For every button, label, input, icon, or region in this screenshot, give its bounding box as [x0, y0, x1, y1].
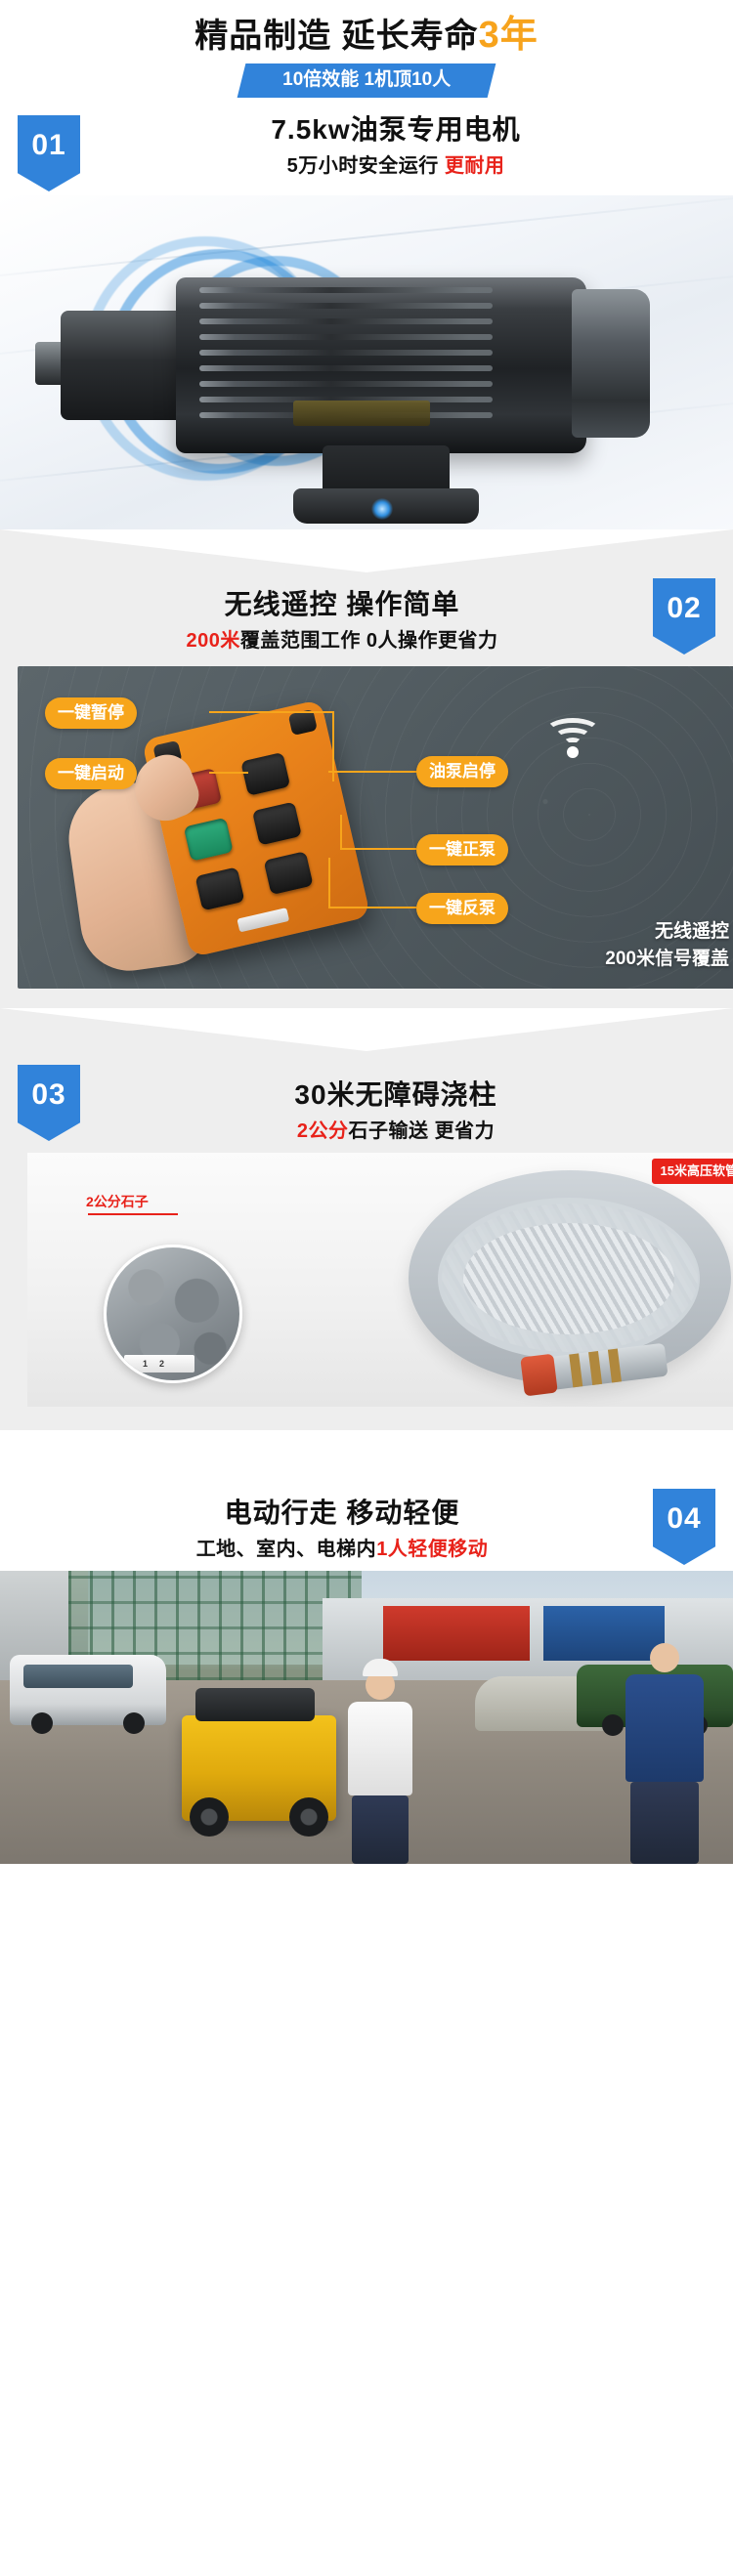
section-04: 04 电动行走 移动轻便 工地、室内、电梯内1人轻便移动: [0, 1430, 733, 1864]
remote-button-pump-start[interactable]: [240, 752, 290, 796]
site-banner-red: [383, 1606, 530, 1661]
section-01-titles: 7.5kw油泵专用电机 5万小时安全运行 更耐用: [0, 111, 733, 181]
van-wheel: [123, 1712, 145, 1734]
label-stone-size: 2公分石子: [86, 1192, 149, 1211]
hard-hat-icon: [363, 1659, 398, 1676]
section-03-subtitle-highlight: 2公分: [297, 1120, 349, 1142]
tag-hose-length: 15米高压软管: [652, 1159, 733, 1184]
remote-button-start[interactable]: [184, 818, 234, 862]
car-wheel: [602, 1714, 624, 1736]
section-badge-02-label: 02: [667, 592, 701, 624]
worker-white-shirt: [348, 1659, 412, 1864]
remote-antenna: [237, 908, 289, 932]
section-04-subtitle-highlight: 1人轻便移动: [376, 1539, 488, 1560]
hose-coupler-head: [520, 1354, 558, 1397]
gravel-sample-photo: 12: [104, 1245, 242, 1383]
section-divider-notch: [0, 1008, 733, 1051]
section-01-subtitle: 5万小时安全运行 更耐用: [59, 151, 733, 181]
concrete-pump-machine: [182, 1715, 336, 1821]
remote-caption-line-1: 无线遥控: [605, 918, 729, 946]
section-02: 02 无线遥控 操作简单 200米覆盖范围工作 0人操作更省力: [0, 529, 733, 1008]
worker-head: [650, 1643, 679, 1672]
ruler-scale: 12: [124, 1355, 194, 1372]
section-divider-notch: [0, 529, 733, 572]
callout-pause: 一键暂停: [45, 697, 137, 729]
section-01: 01 7.5kw油泵专用电机 5万小时安全运行 更耐用: [0, 98, 733, 529]
machine-hopper: [195, 1688, 315, 1721]
section-03-titles: 30米无障碍浇柱 2公分石子输送 更省力: [0, 1065, 733, 1146]
section-04-head: 04 电动行走 移动轻便 工地、室内、电梯内1人轻便移动: [0, 1473, 733, 1571]
callout-leader-line: [209, 772, 248, 774]
section-04-subtitle: 工地、室内、电梯内1人轻便移动: [0, 1535, 684, 1564]
hose-photo: 15米高压软管 2公分石子 12: [27, 1153, 733, 1407]
remote-button-spare-2[interactable]: [264, 851, 314, 895]
callout-leader-line: [209, 711, 334, 713]
wifi-signal-icon: [541, 707, 604, 758]
van-wheel: [31, 1712, 53, 1734]
section-02-title: 无线遥控 操作简单: [0, 586, 684, 623]
motor-housing: [176, 277, 586, 453]
hose-inner-coil: [438, 1198, 700, 1360]
section-04-title: 电动行走 移动轻便: [0, 1495, 684, 1532]
section-02-subtitle-highlight: 200米: [186, 630, 239, 652]
page-title-accent: 3年: [479, 15, 539, 56]
page-header: 精品制造 延长寿命3年 10倍效能 1机顶10人: [0, 0, 733, 98]
section-03-subtitle: 2公分石子输送 更省力: [59, 1117, 733, 1146]
header-banner: 10倍效能 1机顶10人: [237, 63, 496, 98]
page-title-main: 精品制造 延长寿命: [194, 18, 478, 55]
callout-pump-toggle: 油泵启停: [416, 756, 508, 787]
worker-blue-shirt: [625, 1643, 704, 1864]
section-01-subtitle-highlight: 更耐用: [445, 155, 505, 177]
callout-leader-line: [340, 848, 416, 850]
section-02-titles: 无线遥控 操作简单 200米覆盖范围工作 0人操作更省力: [0, 586, 733, 655]
worker-legs: [630, 1782, 699, 1864]
motor-end-cap: [572, 289, 650, 438]
section-03-title: 30米无障碍浇柱: [59, 1077, 733, 1114]
remote-button-forward-pump[interactable]: [252, 802, 302, 846]
callout-leader-line: [328, 771, 418, 773]
section-02-footer-space: [0, 989, 733, 1008]
motor-nameplate: [293, 401, 430, 426]
callout-leader-line: [340, 815, 342, 848]
section-02-head: 02 无线遥控 操作简单 200米覆盖范围工作 0人操作更省力: [0, 572, 733, 666]
callout-reverse-pump: 一键反泵: [416, 893, 508, 924]
led-glow-icon: [371, 498, 393, 520]
motor-photo: [0, 195, 733, 529]
remote-control-photo: 一键暂停 一键启动 油泵启停 一键正泵 一键反泵 无线遥控 200米信号覆盖: [18, 666, 733, 989]
callout-leader-line: [328, 907, 416, 908]
remote-caption-line-2: 200米信号覆盖: [605, 946, 729, 973]
section-04-titles: 电动行走 移动轻便 工地、室内、电梯内1人轻便移动: [0, 1487, 733, 1564]
callout-start: 一键启动: [45, 758, 137, 789]
label-underline: [88, 1213, 178, 1215]
section-01-title: 7.5kw油泵专用电机: [59, 111, 733, 148]
section-02-subtitle-plain: 覆盖范围工作 0人操作更省力: [240, 630, 498, 652]
section-03-footer-space: [0, 1407, 733, 1430]
machine-wheel: [289, 1797, 328, 1837]
section-03-subtitle-plain: 石子输送 更省力: [349, 1120, 496, 1142]
section-03: 03 30米无障碍浇柱 2公分石子输送 更省力 15米高压软管 2公分石子 12: [0, 1008, 733, 1430]
section-03-head: 03 30米无障碍浇柱 2公分石子输送 更省力: [0, 1051, 733, 1153]
remote-button-spare-1[interactable]: [194, 866, 244, 910]
callout-forward-pump: 一键正泵: [416, 834, 508, 866]
motor-gearbox: [61, 311, 188, 420]
section-04-subtitle-plain: 工地、室内、电梯内: [196, 1539, 377, 1560]
section-divider-notch: [0, 1430, 733, 1473]
section-02-subtitle: 200米覆盖范围工作 0人操作更省力: [0, 626, 684, 655]
header-banner-wrap: 10倍效能 1机顶10人: [0, 63, 733, 98]
worksite-photo: [0, 1571, 733, 1864]
section-badge-03-label: 03: [31, 1078, 65, 1111]
section-01-subtitle-plain: 5万小时安全运行: [287, 155, 445, 177]
light-streak: [0, 195, 733, 282]
page-title: 精品制造 延长寿命3年: [0, 14, 733, 58]
section-badge-04-label: 04: [667, 1502, 701, 1535]
machine-wheel: [190, 1797, 229, 1837]
van-window: [23, 1665, 133, 1688]
section-badge-01-label: 01: [31, 129, 65, 161]
section-01-head: 01 7.5kw油泵专用电机 5万小时安全运行 更耐用: [0, 98, 733, 195]
header-banner-label: 10倍效能 1机顶10人: [282, 68, 451, 92]
worker-torso: [625, 1674, 704, 1782]
worker-torso: [348, 1702, 412, 1795]
white-van: [10, 1655, 166, 1725]
remote-caption: 无线遥控 200米信号覆盖: [605, 918, 729, 973]
worker-legs: [352, 1795, 409, 1864]
callout-leader-line: [328, 858, 330, 907]
